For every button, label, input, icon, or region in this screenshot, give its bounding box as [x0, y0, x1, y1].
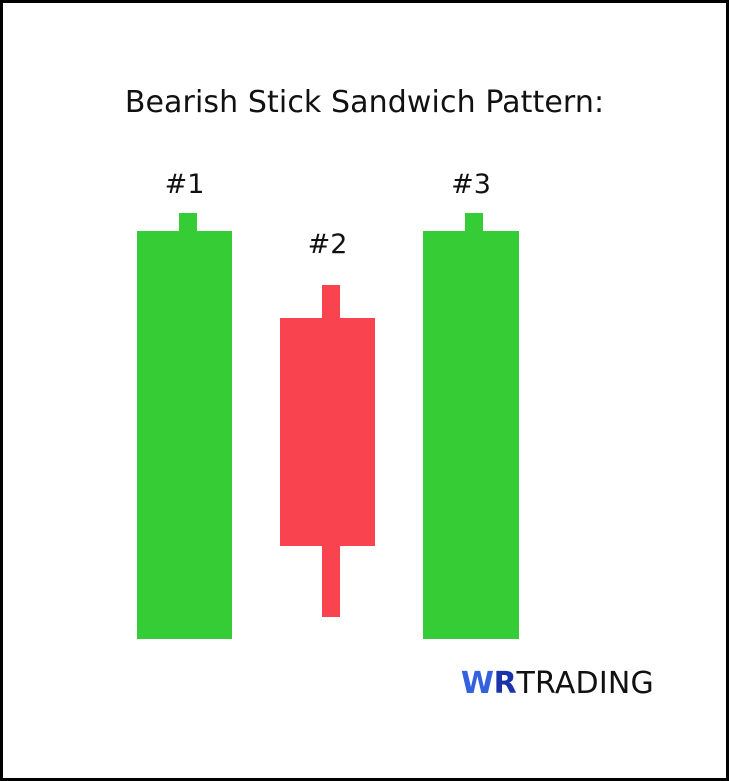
logo-letter-w: W — [461, 669, 494, 699]
candlestick-3: #3 — [3, 3, 726, 778]
wrtrading-logo: W R TRADING — [461, 669, 654, 699]
candlestick-plot-area: #1#2#3 — [3, 3, 726, 778]
candlestick-3-label: #3 — [423, 169, 519, 200]
logo-letter-r: R — [494, 669, 517, 699]
candlestick-3-body — [423, 231, 519, 639]
logo-wordmark-trading: TRADING — [516, 669, 654, 699]
chart-figure: Bearish Stick Sandwich Pattern: #1#2#3 W… — [0, 0, 729, 781]
